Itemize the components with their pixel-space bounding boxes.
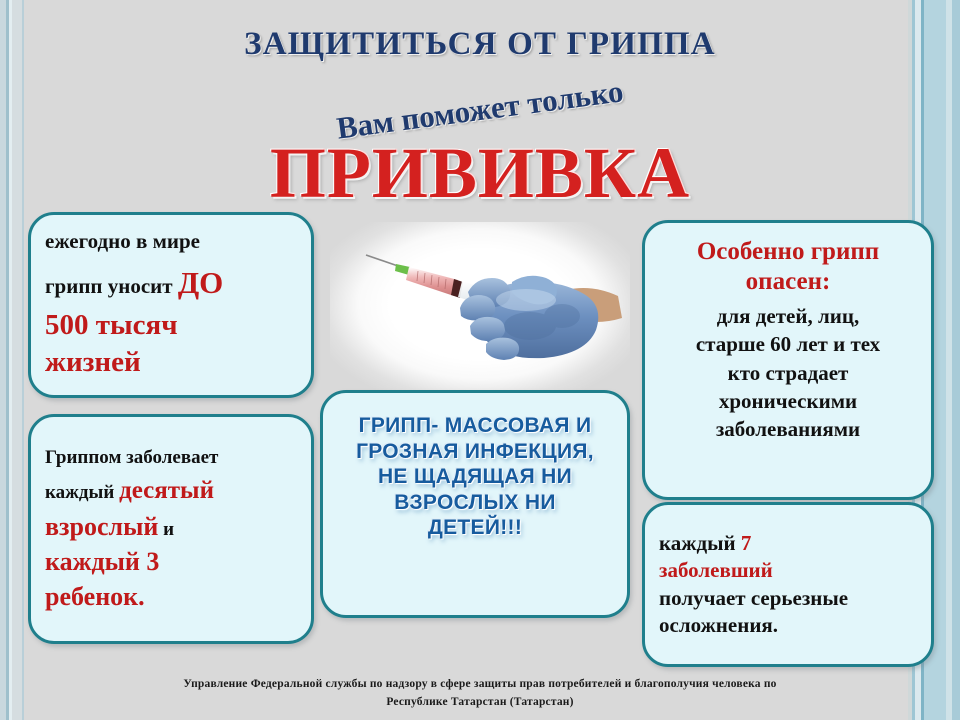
left-edge-stripe-5: [22, 0, 24, 720]
danger-body-5: заболеваниями: [659, 416, 917, 442]
incidence-line-2-black: каждый: [45, 482, 119, 503]
annual-line-4: жизней: [45, 345, 297, 380]
info-box-high-risk-groups: Особенно грипп опасен: для детей, лиц, с…: [642, 220, 934, 500]
danger-body-4: хроническими: [659, 388, 917, 414]
info-box-complications: каждый 7 заболевший получает серьезные о…: [642, 502, 934, 667]
complications-line-1-red: 7: [741, 531, 752, 555]
incidence-line-1: Гриппом заболевает: [45, 446, 297, 469]
danger-heading-2: опасен:: [659, 267, 917, 297]
incidence-line-3-black: и: [158, 519, 174, 540]
mass-line-1: ГРИПП- МАССОВАЯ И: [337, 413, 613, 439]
danger-body-3: кто страдает: [659, 360, 917, 386]
mass-line-3: НЕ ЩАДЯЩАЯ НИ: [337, 464, 613, 490]
incidence-line-2-red: десятый: [119, 477, 214, 504]
incidence-line-4: каждый 3: [45, 546, 297, 578]
incidence-line-3-red: взрослый: [45, 512, 158, 541]
info-box-mass-infection: ГРИПП- МАССОВАЯ И ГРОЗНАЯ ИНФЕКЦИЯ, НЕ Щ…: [320, 390, 630, 618]
complications-line-1: каждый 7: [659, 530, 917, 557]
annual-line-3: 500 тысяч: [45, 308, 297, 343]
complications-line-2: заболевший: [659, 557, 917, 584]
annual-line-2-black: грипп уносит: [45, 274, 178, 298]
info-box-incidence: Гриппом заболевает каждый десятый взросл…: [28, 414, 314, 644]
poster-headline: ЗАЩИТИТЬСЯ ОТ ГРИППА: [0, 26, 960, 63]
footer-line-2: Республике Татарстан (Татарстан): [40, 694, 920, 712]
annual-line-2-red: ДО: [178, 265, 223, 300]
complications-line-1-black: каждый: [659, 531, 741, 555]
right-edge-stripe-7: [952, 0, 960, 720]
syringe-photo: [330, 222, 630, 394]
poster-canvas: ЗАЩИТИТЬСЯ ОТ ГРИППА Вам поможет только …: [0, 0, 960, 720]
incidence-line-3: взрослый и: [45, 511, 297, 543]
danger-body-2: старше 60 лет и тех: [659, 331, 917, 357]
mass-line-4: ВЗРОСЛЫХ НИ: [337, 490, 613, 516]
annual-line-2: грипп уносит ДО: [45, 264, 297, 302]
mass-line-2: ГРОЗНАЯ ИНФЕКЦИЯ,: [337, 439, 613, 465]
footer-line-1: Управление Федеральной службы по надзору…: [40, 676, 920, 694]
info-box-annual-deaths: ежегодно в мире грипп уносит ДО 500 тыся…: [28, 212, 314, 398]
mass-line-5: ДЕТЕЙ!!!: [337, 515, 613, 541]
left-edge-stripe-4: [12, 0, 22, 720]
danger-heading-1: Особенно грипп: [659, 237, 917, 267]
danger-body-1: для детей, лиц,: [659, 303, 917, 329]
footer-attribution: Управление Федеральной службы по надзору…: [40, 676, 920, 712]
complications-line-4: осложнения.: [659, 612, 917, 639]
poster-keyword-vaccination: ПРИВИВКА: [0, 132, 960, 215]
complications-line-3: получает серьезные: [659, 585, 917, 612]
gloved-hand-with-syringe-icon: [330, 222, 630, 394]
incidence-line-5: ребенок.: [45, 581, 297, 613]
incidence-line-2: каждый десятый: [45, 476, 297, 507]
annual-line-1: ежегодно в мире: [45, 229, 297, 255]
